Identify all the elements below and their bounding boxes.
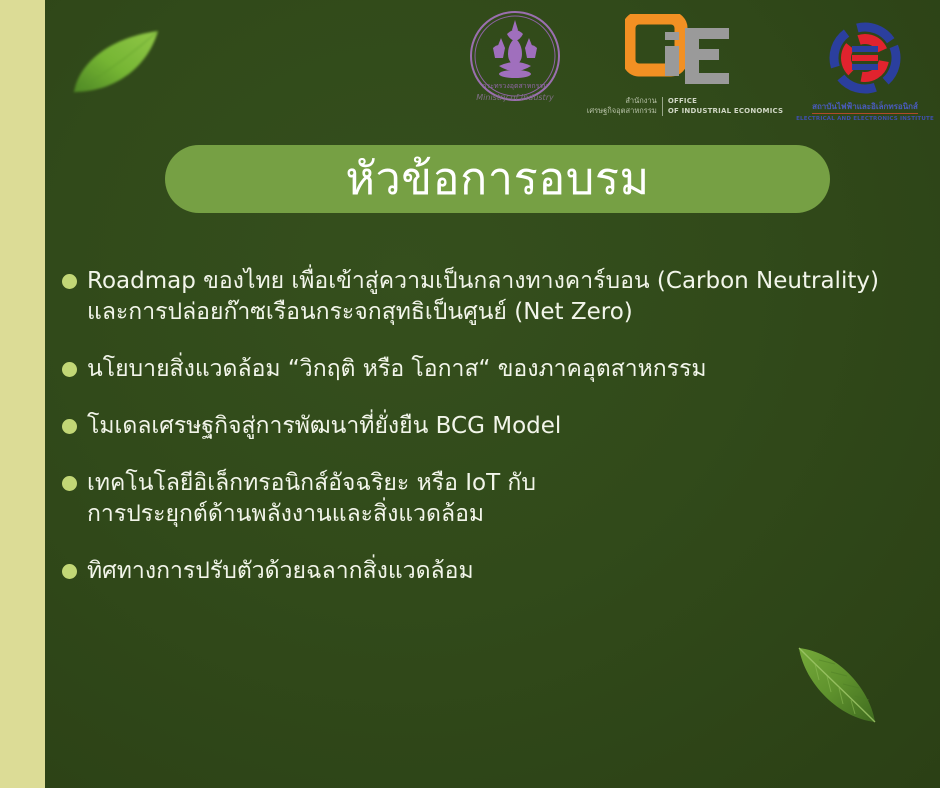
list-item-text: Roadmap ของไทย เพื่อเข้าสู่ความเป็นกลางท… <box>87 266 879 328</box>
list-item-line: นโยบายสิ่งแวดล้อม “วิกฤติ หรือ โอกาส“ ขอ… <box>87 354 707 385</box>
eei-caption-th: สถาบันไฟฟ้าและอิเล็กทรอนิกส์ <box>812 102 918 114</box>
ministry-of-industry-seal-icon: กระทรวงอุตสาหกรรม Ministry of Industry <box>463 8 567 112</box>
oie-caption-th: สำนักงาน เศรษฐกิจอุตสาหกรรม <box>587 96 657 116</box>
presentation-slide: กระทรวงอุตสาหกรรม Ministry of Industry ส… <box>0 0 940 788</box>
list-item: นโยบายสิ่งแวดล้อม “วิกฤติ หรือ โอกาส“ ขอ… <box>62 354 912 385</box>
logo-electrical-electronics-institute: สถาบันไฟฟ้าและอิเล็กทรอนิกส์ ELECTRICAL … <box>800 8 930 123</box>
header-logo-row: กระทรวงอุตสาหกรรม Ministry of Industry ส… <box>460 8 930 136</box>
eei-caption-en: ELECTRICAL AND ELECTRONICS INSTITUTE <box>796 115 934 123</box>
left-accent-strip <box>0 0 45 788</box>
bullet-dot-icon <box>62 476 77 491</box>
page-title: หัวข้อการอบรม <box>345 154 649 204</box>
topic-list: Roadmap ของไทย เพื่อเข้าสู่ความเป็นกลางท… <box>62 266 912 613</box>
list-item-text: ทิศทางการปรับตัวด้วยฉลากสิ่งแวดล้อม <box>87 556 474 587</box>
list-item-text: นโยบายสิ่งแวดล้อม “วิกฤติ หรือ โอกาส“ ขอ… <box>87 354 707 385</box>
oie-monogram-icon <box>625 14 745 92</box>
logo-ministry-of-industry: กระทรวงอุตสาหกรรม Ministry of Industry <box>460 8 570 112</box>
list-item-text: โมเดลเศรษฐกิจสู่การพัฒนาที่ยั่งยืน BCG M… <box>87 411 561 442</box>
ministry-seal-caption-th: กระทรวงอุตสาหกรรม <box>482 82 547 90</box>
oie-caption-th-line2: เศรษฐกิจอุตสาหกรรม <box>587 106 657 116</box>
bullet-dot-icon <box>62 419 77 434</box>
logo-office-of-industrial-economics: สำนักงาน เศรษฐกิจอุตสาหกรรม OFFICE OF IN… <box>605 8 765 116</box>
list-item: โมเดลเศรษฐกิจสู่การพัฒนาที่ยั่งยืน BCG M… <box>62 411 912 442</box>
list-item-line: ทิศทางการปรับตัวด้วยฉลากสิ่งแวดล้อม <box>87 556 474 587</box>
bullet-dot-icon <box>62 564 77 579</box>
list-item-line: เทคโนโลยีอิเล็กทรอนิกส์อัจฉริยะ หรือ IoT… <box>87 468 536 499</box>
list-item-text: เทคโนโลยีอิเล็กทรอนิกส์อัจฉริยะ หรือ IoT… <box>87 468 536 530</box>
oie-caption-divider <box>662 97 663 116</box>
oie-caption: สำนักงาน เศรษฐกิจอุตสาหกรรม OFFICE OF IN… <box>587 96 783 116</box>
oie-caption-th-line1: สำนักงาน <box>587 96 657 106</box>
list-item-line: โมเดลเศรษฐกิจสู่การพัฒนาที่ยั่งยืน BCG M… <box>87 411 561 442</box>
title-banner: หัวข้อการอบรม <box>165 145 830 213</box>
oie-caption-en-line2: OF INDUSTRIAL ECONOMICS <box>668 106 783 116</box>
list-item-line: และการปล่อยก๊าซเรือนกระจกสุทธิเป็นศูนย์ … <box>87 297 879 328</box>
oie-caption-en-line1: OFFICE <box>668 96 783 106</box>
list-item-line: การประยุกต์ด้านพลังงานและสิ่งแวดล้อม <box>87 499 536 530</box>
bullet-dot-icon <box>62 274 77 289</box>
list-item-line: Roadmap ของไทย เพื่อเข้าสู่ความเป็นกลางท… <box>87 266 879 297</box>
ministry-seal-caption-en: Ministry of Industry <box>476 93 554 102</box>
list-item: เทคโนโลยีอิเล็กทรอนิกส์อัจฉริยะ หรือ IoT… <box>62 468 912 530</box>
bullet-dot-icon <box>62 362 77 377</box>
list-item: ทิศทางการปรับตัวด้วยฉลากสิ่งแวดล้อม <box>62 556 912 587</box>
list-item: Roadmap ของไทย เพื่อเข้าสู่ความเป็นกลางท… <box>62 266 912 328</box>
oie-caption-en: OFFICE OF INDUSTRIAL ECONOMICS <box>668 96 783 116</box>
eei-emblem-icon <box>822 20 908 100</box>
